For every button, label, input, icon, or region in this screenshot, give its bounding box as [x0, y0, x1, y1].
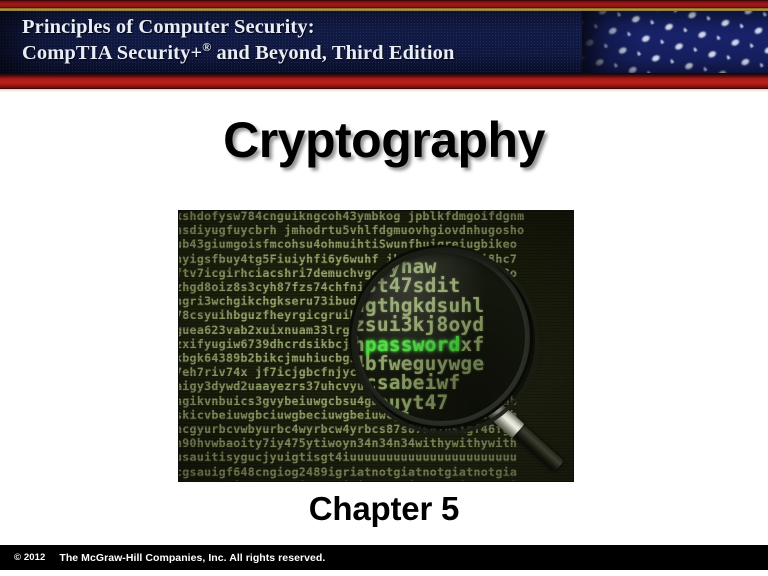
footer-bar: © 2012 The McGraw-Hill Companies, Inc. A… — [0, 545, 768, 570]
book-title-line-2-post: and Beyond, Third Edition — [211, 42, 454, 64]
header-banner: Principles of Computer Security: CompTIA… — [0, 0, 768, 92]
header-bottom-white-rule — [0, 89, 768, 92]
footer-rights-text: The McGraw-Hill Companies, Inc. All righ… — [59, 552, 325, 564]
magnifier-lens: lu64yhaw h48t47sdit khgthgkdsuhl 6zsui3k… — [357, 253, 525, 421]
slide-root: Principles of Computer Security: CompTIA… — [0, 0, 768, 576]
cryptography-illustration: kshdofysw784cnguikngcoh43ymbkog jpblkfdm… — [179, 211, 573, 481]
chapter-label: Chapter 5 — [0, 489, 768, 529]
header-bottom-red-band — [0, 73, 768, 89]
footer-copyright-year: © 2012 — [14, 552, 45, 563]
header-top-maroon-strip — [0, 0, 768, 8]
magnifier-lens-content: lu64yhaw h48t47sdit khgthgkdsuhl 6zsui3k… — [357, 253, 525, 421]
book-title-line-2-pre: CompTIA Security+ — [22, 42, 202, 64]
magnified-code-text: lu64yhaw h48t47sdit khgthgkdsuhl 6zsui3k… — [357, 257, 525, 421]
book-title-line-2: CompTIA Security+® and Beyond, Third Edi… — [22, 40, 622, 66]
registered-trademark-icon: ® — [202, 40, 211, 54]
book-title-line-1: Principles of Computer Security: — [22, 14, 622, 40]
lens-line-8: hncu4i — [357, 410, 413, 421]
book-title: Principles of Computer Security: CompTIA… — [22, 14, 622, 66]
page-title: Cryptography — [0, 111, 768, 169]
magnifying-glass-icon: lu64yhaw h48t47sdit khgthgkdsuhl 6zsui3k… — [357, 253, 537, 433]
